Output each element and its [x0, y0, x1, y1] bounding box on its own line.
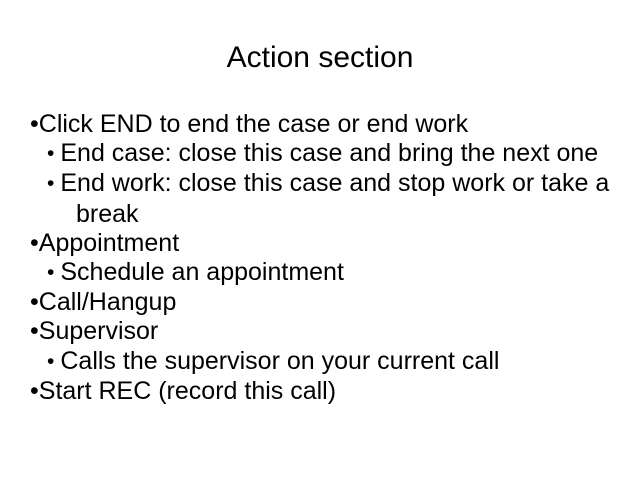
bullet-text: End case: close this case and bring the …: [60, 139, 598, 167]
bullet-item: •Schedule an appointment: [47, 258, 616, 288]
bullet-item: •Supervisor: [30, 317, 616, 346]
bullet-marker-icon: •: [30, 377, 39, 405]
bullet-item: •Start REC (record this call): [30, 377, 616, 406]
bullet-item: •Call/Hangup: [30, 288, 616, 317]
bullet-text: Click END to end the case or end work: [39, 110, 468, 138]
presentation-slide: Action section •Click END to end the cas…: [0, 0, 640, 480]
bullet-text: Appointment: [39, 229, 179, 257]
bullet-item: •Appointment: [30, 229, 616, 258]
bullet-text: Start REC (record this call): [39, 377, 336, 405]
slide-body-placeholder: •Click END to end the case or end work •…: [28, 110, 616, 406]
bullet-marker-icon: •: [47, 350, 54, 373]
bullet-marker-icon: •: [47, 172, 54, 195]
bullet-marker-icon: •: [30, 317, 39, 345]
bullet-marker-icon: •: [47, 142, 54, 165]
bullet-item: •Calls the supervisor on your current ca…: [47, 347, 616, 377]
bullet-marker-icon: •: [30, 110, 39, 138]
bullet-text: Supervisor: [39, 317, 159, 345]
bullet-item: •End case: close this case and bring the…: [47, 139, 616, 169]
bullet-text: Calls the supervisor on your current cal…: [60, 347, 499, 375]
bullet-text: End work: close this case and stop work …: [60, 169, 609, 227]
bullet-text: Call/Hangup: [39, 288, 177, 316]
bullet-marker-icon: •: [30, 229, 39, 257]
bullet-item: •Click END to end the case or end work: [30, 110, 616, 139]
bullet-marker-icon: •: [47, 261, 54, 284]
bullet-marker-icon: •: [30, 288, 39, 316]
slide-title: Action section: [0, 40, 640, 76]
bullet-item: •End work: close this case and stop work…: [47, 169, 616, 228]
bullet-text: Schedule an appointment: [60, 258, 344, 286]
